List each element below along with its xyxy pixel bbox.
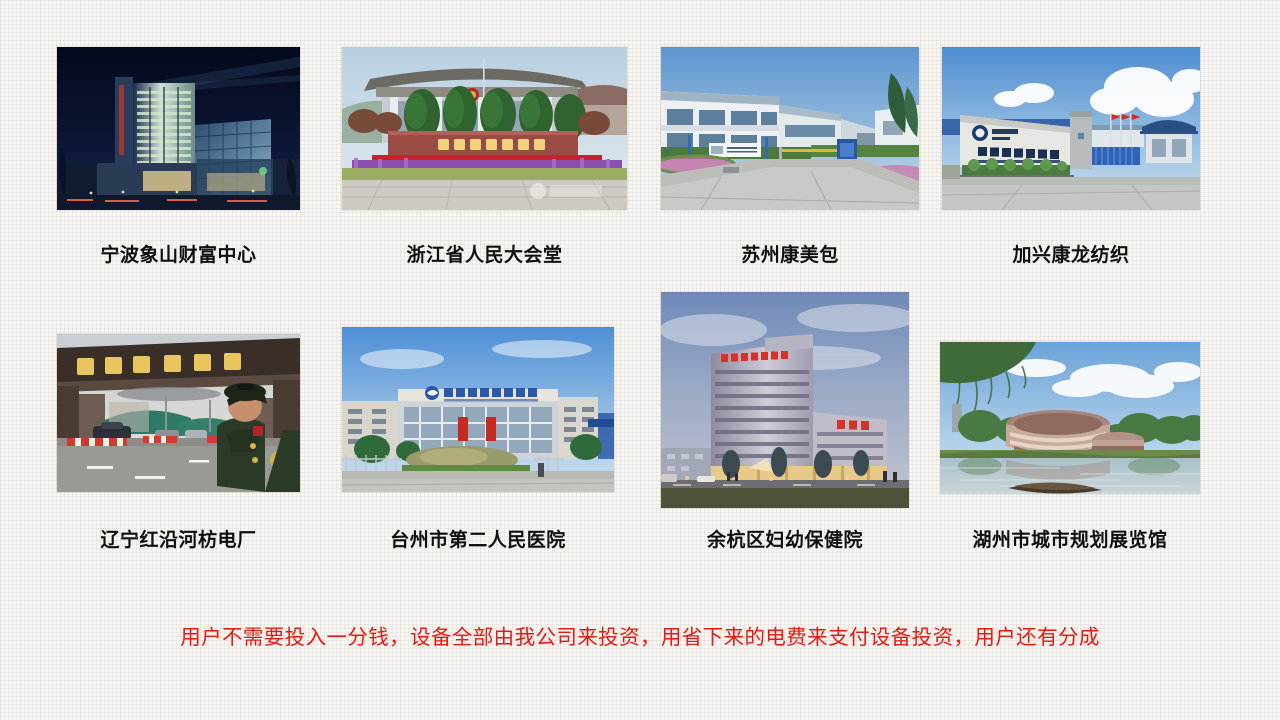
sign-gold-characters: [438, 139, 545, 150]
caption-3: 苏州康美包: [661, 240, 919, 267]
caption-5: 辽宁红沿河枋电厂: [57, 525, 300, 552]
photo-zhejiang-great-hall[interactable]: [342, 47, 627, 210]
photo-hongyanhe-nuclear-plant[interactable]: [57, 334, 300, 492]
textile-plant-gate-illustration: [942, 47, 1200, 210]
tagline-text: 用户不需要投入一分钱，设备全部由我公司来投资，用省下来的电费来支付设备投资，用户…: [0, 620, 1280, 650]
caption-7: 余杭区妇幼保健院: [661, 525, 909, 552]
factory-campus-illustration: [661, 47, 919, 210]
night-highrise-render-illustration: [57, 47, 300, 210]
stock-photo-watermark: [530, 183, 602, 199]
caption-8: 湖州市城市规划展览馆: [940, 525, 1200, 552]
photo-huzhou-planning-exhibition-hall[interactable]: [940, 342, 1200, 494]
hospital-daylight-illustration: [342, 327, 614, 492]
slide-canvas: 宁波象山财富中心: [0, 0, 1280, 720]
photo-taizhou-second-hospital[interactable]: [342, 327, 614, 492]
photo-jiaxing-kanglong-textile[interactable]: [942, 47, 1200, 210]
caption-6: 台州市第二人民医院: [342, 525, 614, 552]
caption-4: 加兴康龙纺织: [942, 240, 1200, 267]
exhibition-hall-lake-illustration: [940, 342, 1200, 494]
photo-suzhou-kangmeibao[interactable]: [661, 47, 919, 210]
hospital-dusk-render-illustration: [661, 292, 909, 508]
photo-yuhang-maternal-child-hospital[interactable]: [661, 292, 909, 508]
nuclear-plant-gate-illustration: [57, 334, 300, 492]
caption-1: 宁波象山财富中心: [57, 240, 300, 267]
caption-2: 浙江省人民大会堂: [342, 240, 627, 267]
photo-ningbo-xiangshan-wealth-center[interactable]: [57, 47, 300, 210]
great-hall-daylight-illustration: [342, 47, 627, 210]
